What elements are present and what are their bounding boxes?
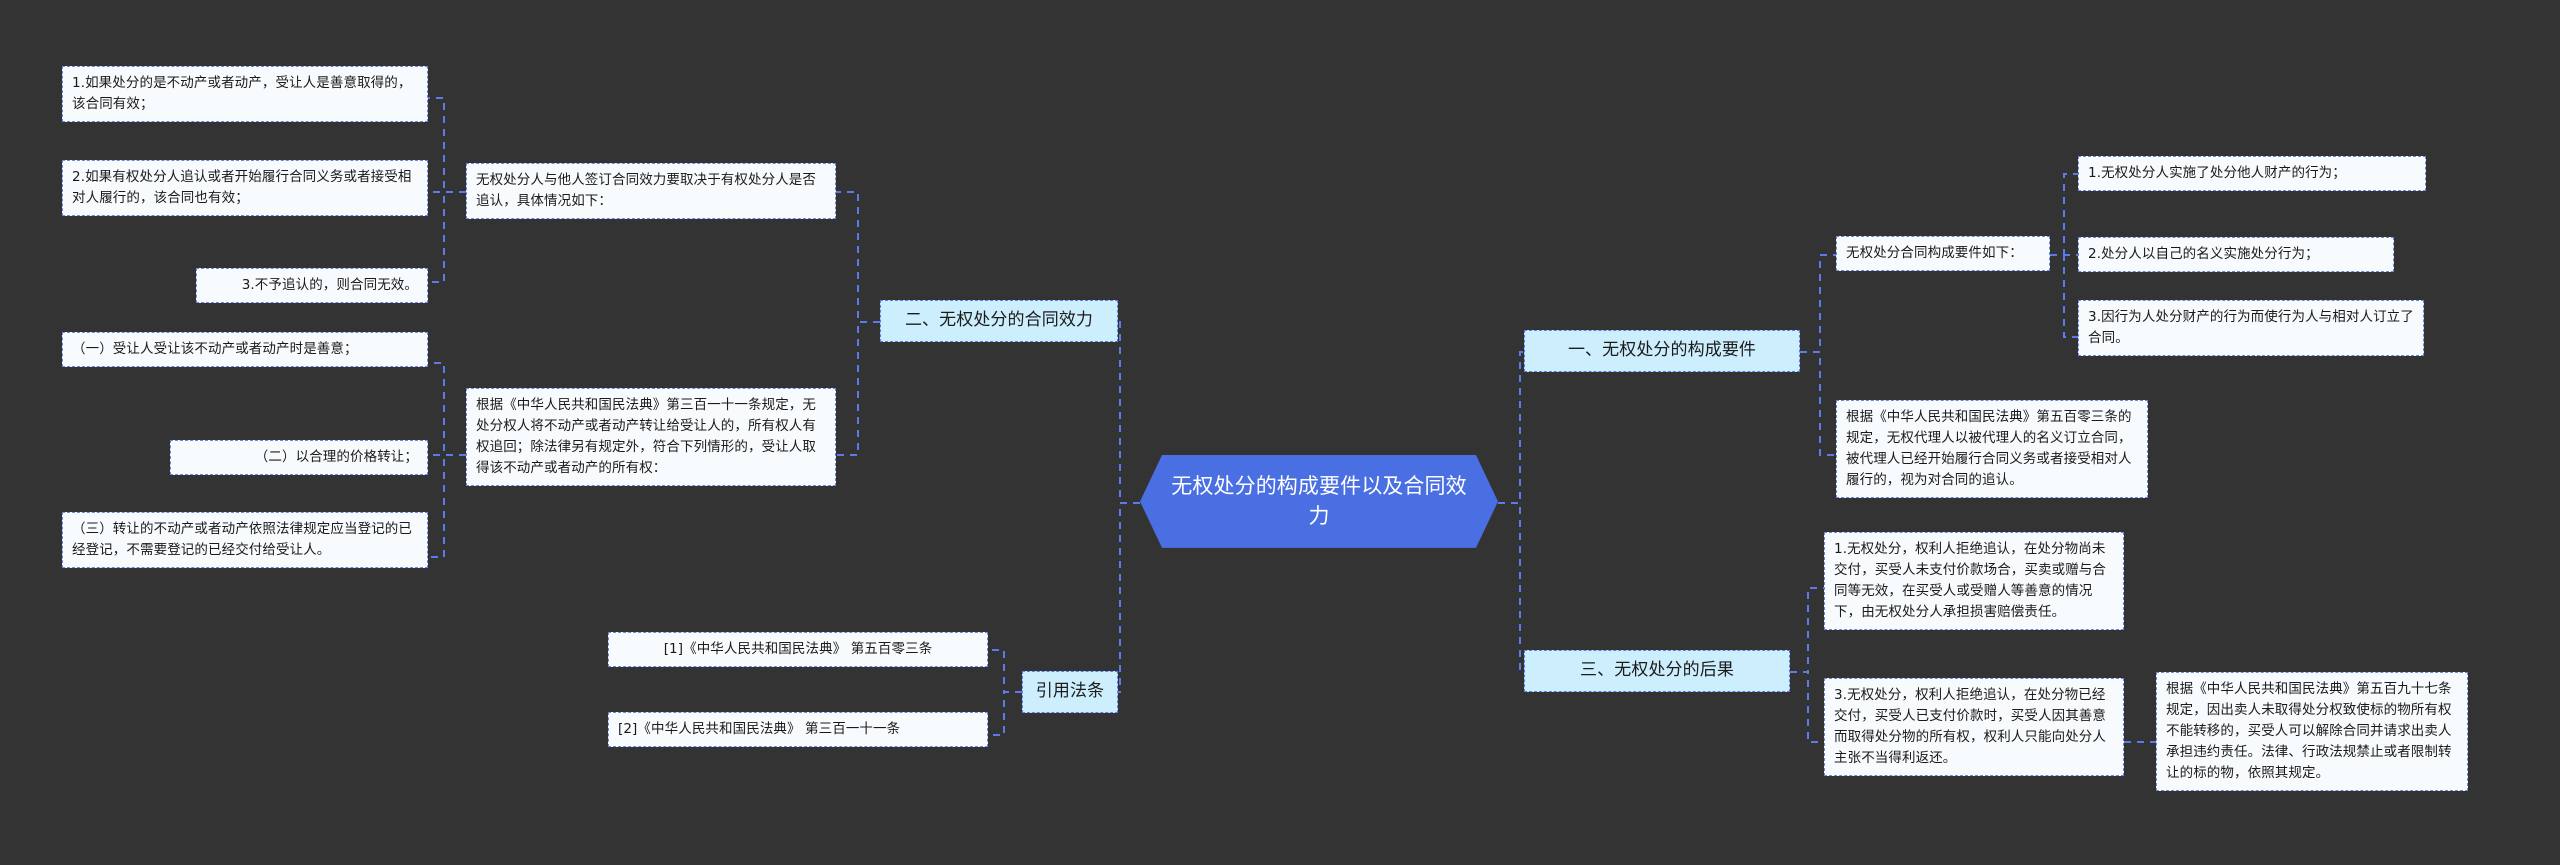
branch-label: 一、无权处分的构成要件 [1568, 340, 1756, 360]
branch-node-requirements[interactable]: 一、无权处分的构成要件 [1524, 330, 1800, 372]
node-text: 3.不予追认的，则合同无效。 [242, 277, 418, 293]
node-text: 根据《中华人民共和国民法典》第五百零三条的规定，无权代理人以被代理人的名义订立合… [1846, 409, 2132, 488]
node-effect-1[interactable]: 1.如果处分的是不动产或者动产，受让人是善意取得的，该合同有效； [62, 66, 428, 122]
node-requirements-intro[interactable]: 无权处分合同构成要件如下： [1836, 236, 2050, 271]
node-text: 1.无权处分，权利人拒绝追认，在处分物尚未交付，买受人未支付价款场合，买卖或赠与… [1834, 541, 2106, 620]
node-text: 2.如果有权处分人追认或者开始履行合同义务或者接受相对人履行的，该合同也有效； [72, 169, 411, 206]
center-node[interactable]: 无权处分的构成要件以及合同效力 [1140, 455, 1498, 548]
node-text: 3.因行为人处分财产的行为而使行为人与相对人订立了合同。 [2088, 309, 2414, 346]
node-text: [1]《中华人民共和国民法典》 第五百零三条 [664, 641, 933, 657]
branch-node-consequences[interactable]: 三、无权处分的后果 [1524, 650, 1790, 692]
node-condition-3[interactable]: （三）转让的不动产或者动产依照法律规定应当登记的已经登记，不需要登记的已经交付给… [62, 512, 428, 568]
branch-label: 三、无权处分的后果 [1580, 660, 1734, 680]
node-consequence-law-597[interactable]: 根据《中华人民共和国民法典》第五百九十七条规定，因出卖人未取得处分权致使标的物所… [2156, 672, 2468, 791]
node-text: 无权处分人与他人签订合同效力要取决于有权处分人是否追认，具体情况如下： [476, 172, 816, 209]
node-effect-2[interactable]: 2.如果有权处分人追认或者开始履行合同义务或者接受相对人履行的，该合同也有效； [62, 160, 428, 216]
node-text: 1.无权处分人实施了处分他人财产的行为； [2088, 165, 2346, 181]
node-text: 无权处分合同构成要件如下： [1846, 245, 2023, 261]
node-text: 根据《中华人民共和国民法典》第三百一十一条规定，无处分权人将不动产或者动产转让给… [476, 397, 816, 476]
node-text: 1.如果处分的是不动产或者动产，受让人是善意取得的，该合同有效； [72, 75, 411, 112]
node-text: 3.无权处分，权利人拒绝追认，在处分物已经交付，买受人已支付价款时，买受人因其善… [1834, 687, 2106, 766]
node-effect-3[interactable]: 3.不予追认的，则合同无效。 [196, 268, 428, 303]
branch-node-contract-validity[interactable]: 二、无权处分的合同效力 [880, 300, 1118, 342]
branch-label: 引用法条 [1036, 681, 1104, 701]
node-text: （二）以合理的价格转让； [255, 449, 418, 465]
node-condition-2[interactable]: （二）以合理的价格转让； [170, 440, 428, 475]
node-text: [2]《中华人民共和国民法典》 第三百一十一条 [618, 721, 900, 737]
mindmap-canvas: 无权处分的构成要件以及合同效力 二、无权处分的合同效力 无权处分人与他人签订合同… [0, 0, 2560, 865]
node-text: （一）受让人受让该不动产或者动产时是善意； [72, 341, 358, 357]
node-text: （三）转让的不动产或者动产依照法律规定应当登记的已经登记，不需要登记的已经交付给… [72, 521, 412, 558]
node-requirement-law-503[interactable]: 根据《中华人民共和国民法典》第五百零三条的规定，无权代理人以被代理人的名义订立合… [1836, 400, 2148, 498]
node-requirement-1[interactable]: 1.无权处分人实施了处分他人财产的行为； [2078, 156, 2426, 191]
node-text: 2.处分人以自己的名义实施处分行为； [2088, 246, 2319, 262]
node-consequence-3[interactable]: 3.无权处分，权利人拒绝追认，在处分物已经交付，买受人已支付价款时，买受人因其善… [1824, 678, 2124, 776]
node-requirement-2[interactable]: 2.处分人以自己的名义实施处分行为； [2078, 237, 2394, 272]
node-text: 根据《中华人民共和国民法典》第五百九十七条规定，因出卖人未取得处分权致使标的物所… [2166, 681, 2452, 781]
center-node-label: 无权处分的构成要件以及合同效力 [1171, 474, 1466, 528]
node-intro-article-311[interactable]: 根据《中华人民共和国民法典》第三百一十一条规定，无处分权人将不动产或者动产转让给… [466, 388, 836, 486]
node-citation-2[interactable]: [2]《中华人民共和国民法典》 第三百一十一条 [608, 712, 988, 747]
branch-node-citations[interactable]: 引用法条 [1022, 671, 1118, 713]
node-consequence-1[interactable]: 1.无权处分，权利人拒绝追认，在处分物尚未交付，买受人未支付价款场合，买卖或赠与… [1824, 532, 2124, 630]
branch-label: 二、无权处分的合同效力 [905, 310, 1093, 330]
node-intro-validity[interactable]: 无权处分人与他人签订合同效力要取决于有权处分人是否追认，具体情况如下： [466, 163, 836, 219]
node-condition-1[interactable]: （一）受让人受让该不动产或者动产时是善意； [62, 332, 428, 367]
node-requirement-3[interactable]: 3.因行为人处分财产的行为而使行为人与相对人订立了合同。 [2078, 300, 2424, 356]
node-citation-1[interactable]: [1]《中华人民共和国民法典》 第五百零三条 [608, 632, 988, 667]
